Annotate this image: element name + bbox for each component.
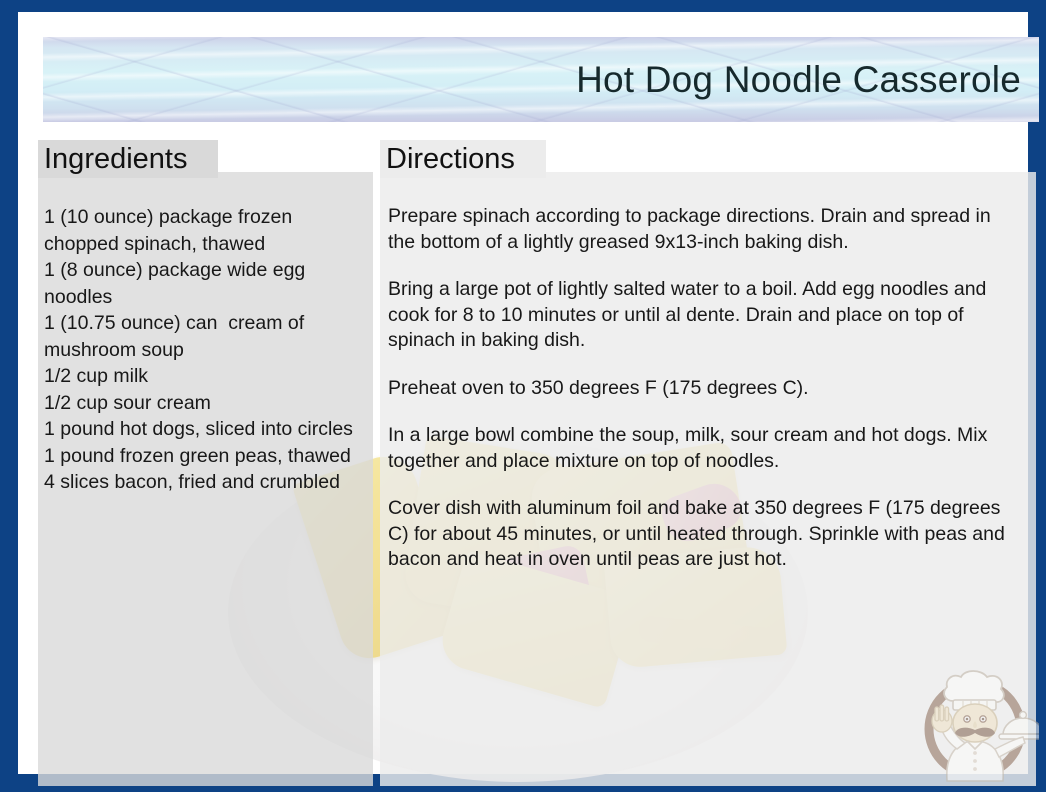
- direction-step: Prepare spinach according to package dir…: [388, 204, 1022, 255]
- ingredients-panel: 1 (10 ounce) package frozen chopped spin…: [38, 172, 373, 786]
- chef-with-cloche-logo: [911, 657, 1039, 785]
- list-item: 4 slices bacon, fried and crumbled: [44, 469, 369, 496]
- page-title: Hot Dog Noodle Casserole: [576, 59, 1021, 101]
- chef-logo-icon: [911, 657, 1039, 785]
- section-heading-directions: Directions: [380, 140, 546, 178]
- section-heading-ingredients: Ingredients: [38, 140, 218, 178]
- list-item: 1/2 cup sour cream: [44, 390, 369, 417]
- card-inner-surface: Hot Dog Noodle Casserole 1 (10 ounce) pa…: [18, 12, 1028, 774]
- list-item: 1 (10 ounce) package frozen chopped spin…: [44, 204, 369, 257]
- recipe-card-frame: Hot Dog Noodle Casserole 1 (10 ounce) pa…: [0, 0, 1046, 792]
- list-item: 1 (10.75 ounce) can cream of mushroom so…: [44, 310, 369, 363]
- list-item: 1 pound frozen green peas, thawed: [44, 443, 369, 470]
- direction-step: Bring a large pot of lightly salted wate…: [388, 277, 1022, 354]
- direction-step: Preheat oven to 350 degrees F (175 degre…: [388, 376, 1022, 402]
- list-item: 1 pound hot dogs, sliced into circles: [44, 416, 369, 443]
- list-item: 1 (8 ounce) package wide egg noodles: [44, 257, 369, 310]
- directions-list: Prepare spinach according to package dir…: [388, 204, 1022, 573]
- header-banner: Hot Dog Noodle Casserole: [43, 37, 1039, 122]
- list-item: 1/2 cup milk: [44, 363, 369, 390]
- direction-step: In a large bowl combine the soup, milk, …: [388, 423, 1022, 474]
- ingredients-list: 1 (10 ounce) package frozen chopped spin…: [44, 204, 369, 496]
- direction-step: Cover dish with aluminum foil and bake a…: [388, 496, 1022, 573]
